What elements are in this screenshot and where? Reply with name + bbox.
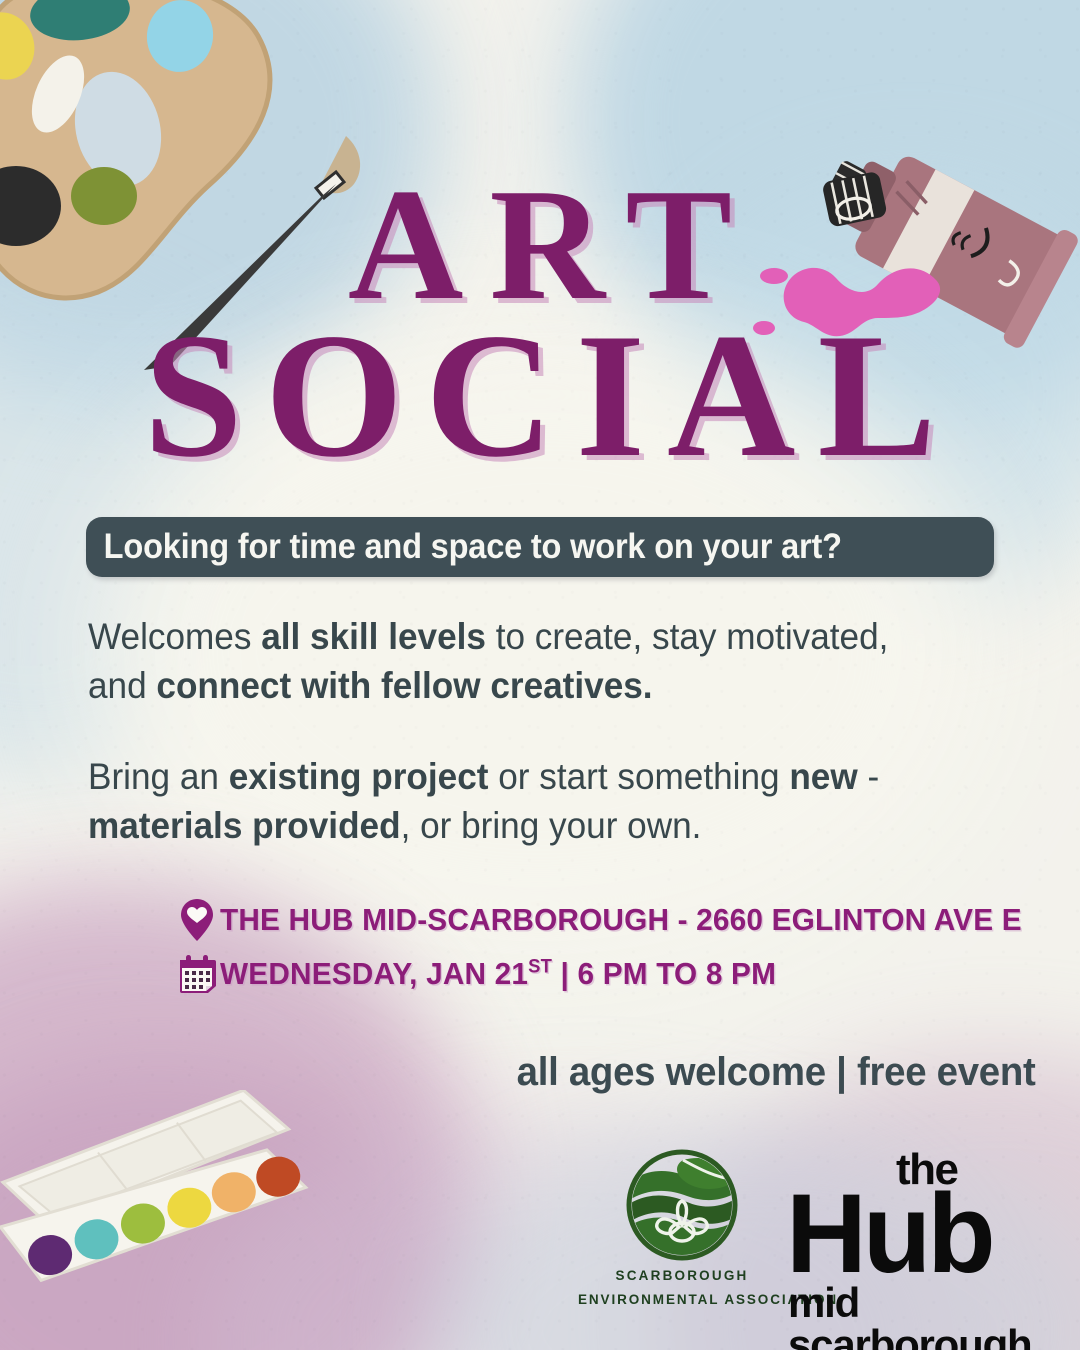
para2-part-a: Bring an [88, 756, 229, 797]
date-ordinal-suffix: ST [528, 957, 552, 978]
date-time-range: | 6 PM TO 8 PM [552, 956, 776, 991]
para1-emphasis-connect: connect with fellow creatives. [156, 665, 652, 706]
date-prefix: WEDNESDAY, JAN 21 [220, 956, 528, 991]
event-poster: ART SOCIAL Looking for time and space to… [0, 0, 1080, 1350]
para2-emphasis-materials: materials provided [88, 805, 401, 846]
body-paragraph-1: Welcomes all skill levels to create, sta… [88, 612, 943, 710]
para2-emphasis-new: new [789, 756, 857, 797]
sea-name-line-2: ENVIRONMENTAL ASSOCIATION [578, 1291, 786, 1310]
para1-emphasis-skill-levels: all skill levels [261, 616, 486, 657]
poster-title: ART SOCIAL [0, 170, 1080, 478]
para1-part-a: Welcomes [88, 616, 261, 657]
detail-row-date: WEDNESDAY, JAN 21ST | 6 PM TO 8 PM [174, 954, 1055, 994]
event-details: THE HUB MID-SCARBOROUGH - 2660 EGLINTON … [174, 898, 1055, 1006]
title-line-social: SOCIAL [0, 313, 1080, 479]
tagline-banner: Looking for time and space to work on yo… [86, 517, 994, 577]
para2-emphasis-existing-project: existing project [229, 756, 489, 797]
hub-logo-sub: mid scarborough [788, 1282, 1070, 1350]
location-text: THE HUB MID-SCARBOROUGH - 2660 EGLINTON … [220, 902, 1022, 938]
para2-part-g: , or bring your own. [401, 805, 702, 846]
detail-row-location: THE HUB MID-SCARBOROUGH - 2660 EGLINTON … [174, 898, 1055, 942]
calendar-icon [174, 954, 220, 994]
para2-part-e: - [858, 756, 879, 797]
leaf-globe-lotus-icon [625, 1148, 739, 1262]
para2-part-c: or start something [488, 756, 789, 797]
location-pin-heart-icon [174, 898, 220, 942]
sea-name-line-1: SCARBOROUGH [578, 1267, 786, 1286]
hub-logo-main: Hub [786, 1178, 992, 1290]
date-time-text: WEDNESDAY, JAN 21ST | 6 PM TO 8 PM [220, 956, 776, 992]
body-paragraph-2: Bring an existing project or start somet… [88, 752, 943, 850]
tagline-text: Looking for time and space to work on yo… [86, 527, 842, 567]
scarborough-environmental-association-logo: SCARBOROUGH ENVIRONMENTAL ASSOCIATION [578, 1148, 786, 1309]
admission-note: all ages welcome | free event [517, 1050, 1036, 1095]
